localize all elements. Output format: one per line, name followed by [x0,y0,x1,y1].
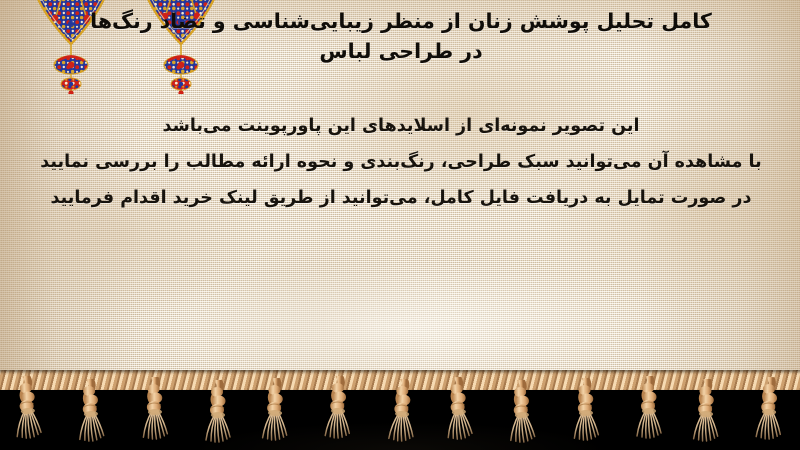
tassel [383,378,421,450]
slide-canvas: کامل تحلیل پوشش زنان از منظر زیبایی‌شناس… [0,0,800,450]
text-layer: کامل تحلیل پوشش زنان از منظر زیبایی‌شناس… [0,0,800,378]
black-tassel-fringe [0,370,800,450]
body-line-2: با مشاهده آن می‌توانید سبک طراحی، رنگ‌بن… [16,144,786,180]
tassel [257,378,292,450]
tassel [201,380,235,450]
body-line-3: در صورت تمایل به دریافت فایل کامل، می‌تو… [16,180,786,216]
slide-title: کامل تحلیل پوشش زنان از منظر زیبایی‌شناس… [20,6,782,66]
tassel [504,379,541,450]
body-line-1: این تصویر نمونه‌ای از اسلایدهای این پاور… [16,108,786,144]
tassel [632,376,666,450]
slide-body: این تصویر نمونه‌ای از اسلایدهای این پاور… [16,108,786,216]
title-line-2: در طراحی لباس [20,36,782,66]
tassel [320,375,357,450]
tassel [568,378,603,450]
tassel [137,377,172,450]
tassel [688,379,723,450]
tassel [73,378,110,450]
tassel [751,376,788,450]
tassel [9,375,47,450]
title-line-1: کامل تحلیل پوشش زنان از منظر زیبایی‌شناس… [20,6,782,36]
tassel [440,376,478,450]
